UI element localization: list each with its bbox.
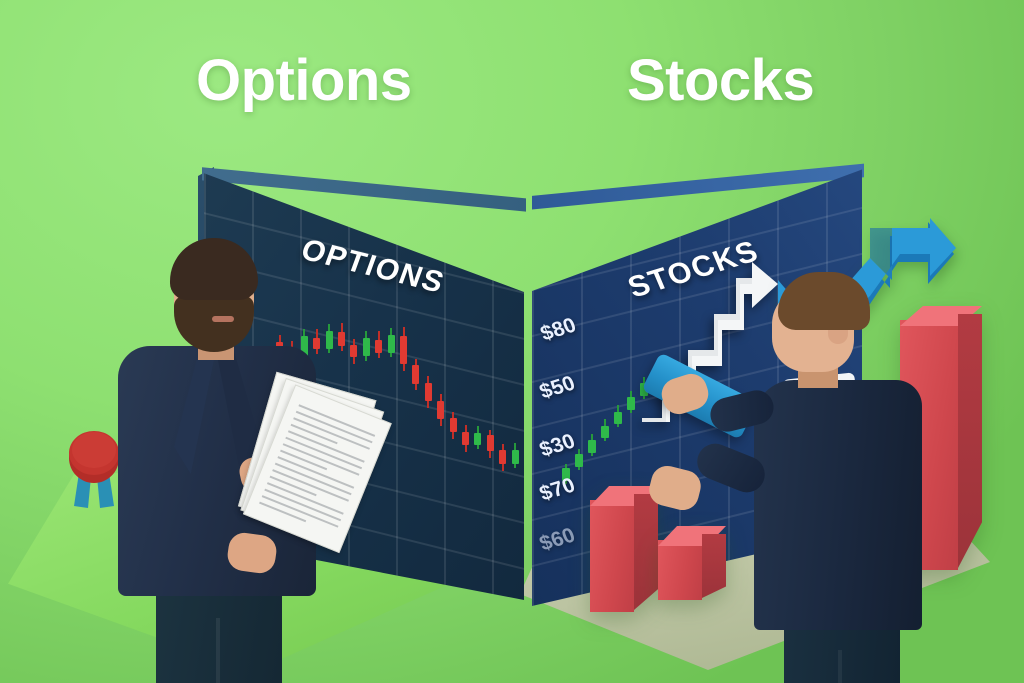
bar-side-face [958,314,982,568]
candle-body [425,383,432,401]
candle-body [462,432,469,446]
candle-body [487,435,494,451]
grid-line-vertical [581,156,583,606]
left-person-mouth [212,316,234,322]
candle-body [363,338,370,356]
candle-body [375,340,382,354]
candle-body [350,345,357,356]
grid-line-vertical [396,160,398,600]
bar-front-face [590,500,634,612]
candle-body [437,401,444,419]
document-text-line [262,495,339,528]
grid-line-vertical [444,160,446,600]
heading-options: Options [196,52,412,110]
left-person-leg-seam [216,618,220,683]
candle-body [499,450,506,464]
candle-body [474,433,481,444]
candle-body [400,336,407,363]
heading-stocks: Stocks [627,52,814,110]
candle-body [627,397,635,410]
candle-body [388,335,395,353]
left-person-beard [174,296,254,352]
right-person-hair [778,272,870,330]
bar-front-face [658,540,702,600]
right-person-leg-seam [838,650,842,683]
left-person-hair [170,238,258,300]
candle-body [450,418,457,432]
bar-3d [658,540,702,600]
grid-line-vertical [492,160,494,600]
right-person-jacket [754,380,922,630]
candle-body [326,331,333,349]
candle-body [338,332,345,346]
person-analyst-left [112,238,322,683]
candle-body [601,426,609,439]
candle-body [614,412,622,425]
candle-body [412,365,419,383]
candle-body [588,440,596,453]
person-analyst-right [736,272,926,683]
candle-body [575,454,583,467]
scene-root: Options Stocks OPTIONS STOCKS $80$50$30$… [0,0,1024,683]
candle-body [512,450,519,464]
bar-3d [590,500,634,612]
